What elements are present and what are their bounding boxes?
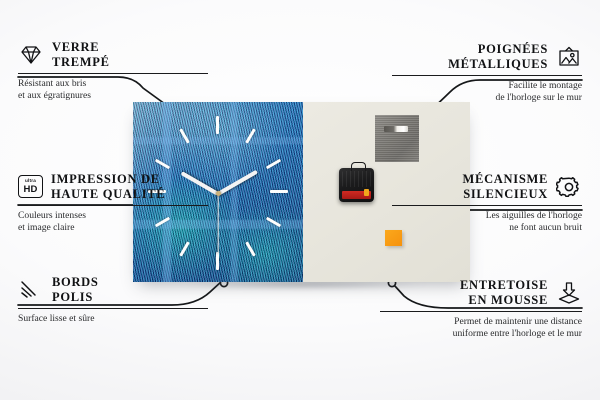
minute-hand — [217, 170, 258, 196]
tick-2 — [266, 159, 281, 170]
feature-description: Facilite le montage de l'horloge sur le … — [392, 80, 582, 105]
feature-description: Permet de maintenir une distance uniform… — [380, 316, 582, 341]
tick-12 — [216, 116, 219, 134]
feature-title: VERRE TREMPÉ — [52, 40, 110, 70]
feature-mecanisme-silencieux: MÉCANISME SILENCIEUX Les aiguilles de l'… — [392, 172, 582, 235]
title-underline — [392, 75, 582, 76]
feature-header: POIGNÉES MÉTALLIQUES — [392, 42, 582, 72]
feature-entretoise-en-mousse: ENTRETOISE EN MOUSSE Permet de maintenir… — [380, 278, 582, 341]
feature-verre-trempe: VERRE TREMPÉ Résistant aux bris et aux é… — [18, 40, 208, 103]
title-underline — [392, 205, 582, 206]
feature-header: BORDS POLIS — [18, 275, 208, 305]
tick-10 — [155, 159, 170, 170]
feature-title: ENTRETOISE EN MOUSSE — [460, 278, 548, 308]
battery — [342, 191, 371, 199]
feature-bords-polis: BORDS POLIS Surface lisse et sûre — [18, 275, 208, 325]
feature-impression-haute-qualite: ultra HD IMPRESSION DE HAUTE QUALITÉ Cou… — [18, 172, 208, 235]
metal-hanger-plate — [375, 115, 419, 162]
feature-title: BORDS POLIS — [52, 275, 99, 305]
feature-poignees-metalliques: POIGNÉES MÉTALLIQUES Facilite le montage… — [392, 42, 582, 105]
feature-title: POIGNÉES MÉTALLIQUES — [448, 42, 548, 72]
title-underline — [18, 205, 208, 206]
hanging-frame-icon — [556, 45, 582, 69]
mechanism-hanging-loop — [351, 162, 366, 171]
polished-edges-icon — [18, 278, 44, 302]
title-underline — [18, 308, 208, 309]
tick-11 — [179, 128, 190, 143]
tick-4 — [266, 217, 281, 228]
second-hand — [217, 194, 218, 254]
tick-1 — [245, 128, 256, 143]
feature-title: MÉCANISME SILENCIEUX — [463, 172, 548, 202]
title-underline — [380, 311, 582, 312]
tick-6 — [216, 252, 219, 270]
feature-header: MÉCANISME SILENCIEUX — [392, 172, 582, 202]
gear-icon — [556, 175, 582, 199]
ultra-hd-icon: ultra HD — [18, 175, 43, 198]
feature-description: Les aiguilles de l'horloge ne font aucun… — [392, 210, 582, 235]
battery-plus-terminal — [364, 189, 369, 196]
tick-7 — [179, 241, 190, 256]
mechanism-housing-detail — [342, 171, 371, 187]
feature-header: ultra HD IMPRESSION DE HAUTE QUALITÉ — [18, 172, 208, 202]
infographic-canvas: VERRE TREMPÉ Résistant aux bris et aux é… — [0, 0, 600, 400]
feature-description: Surface lisse et sûre — [18, 313, 208, 325]
foam-spacer-icon — [556, 281, 582, 305]
feature-header: ENTRETOISE EN MOUSSE — [380, 278, 582, 308]
tick-3 — [270, 190, 288, 193]
feature-description: Résistant aux bris et aux égratignures — [18, 78, 208, 103]
clock-mechanism — [339, 168, 374, 202]
tick-5 — [245, 241, 256, 256]
hands-center-pin — [216, 191, 221, 196]
feature-header: VERRE TREMPÉ — [18, 40, 208, 70]
hanger-slot — [384, 126, 408, 132]
feature-description: Couleurs intenses et image claire — [18, 210, 208, 235]
feature-title: IMPRESSION DE HAUTE QUALITÉ — [51, 172, 165, 202]
diamond-icon — [18, 43, 44, 67]
title-underline — [18, 73, 208, 74]
